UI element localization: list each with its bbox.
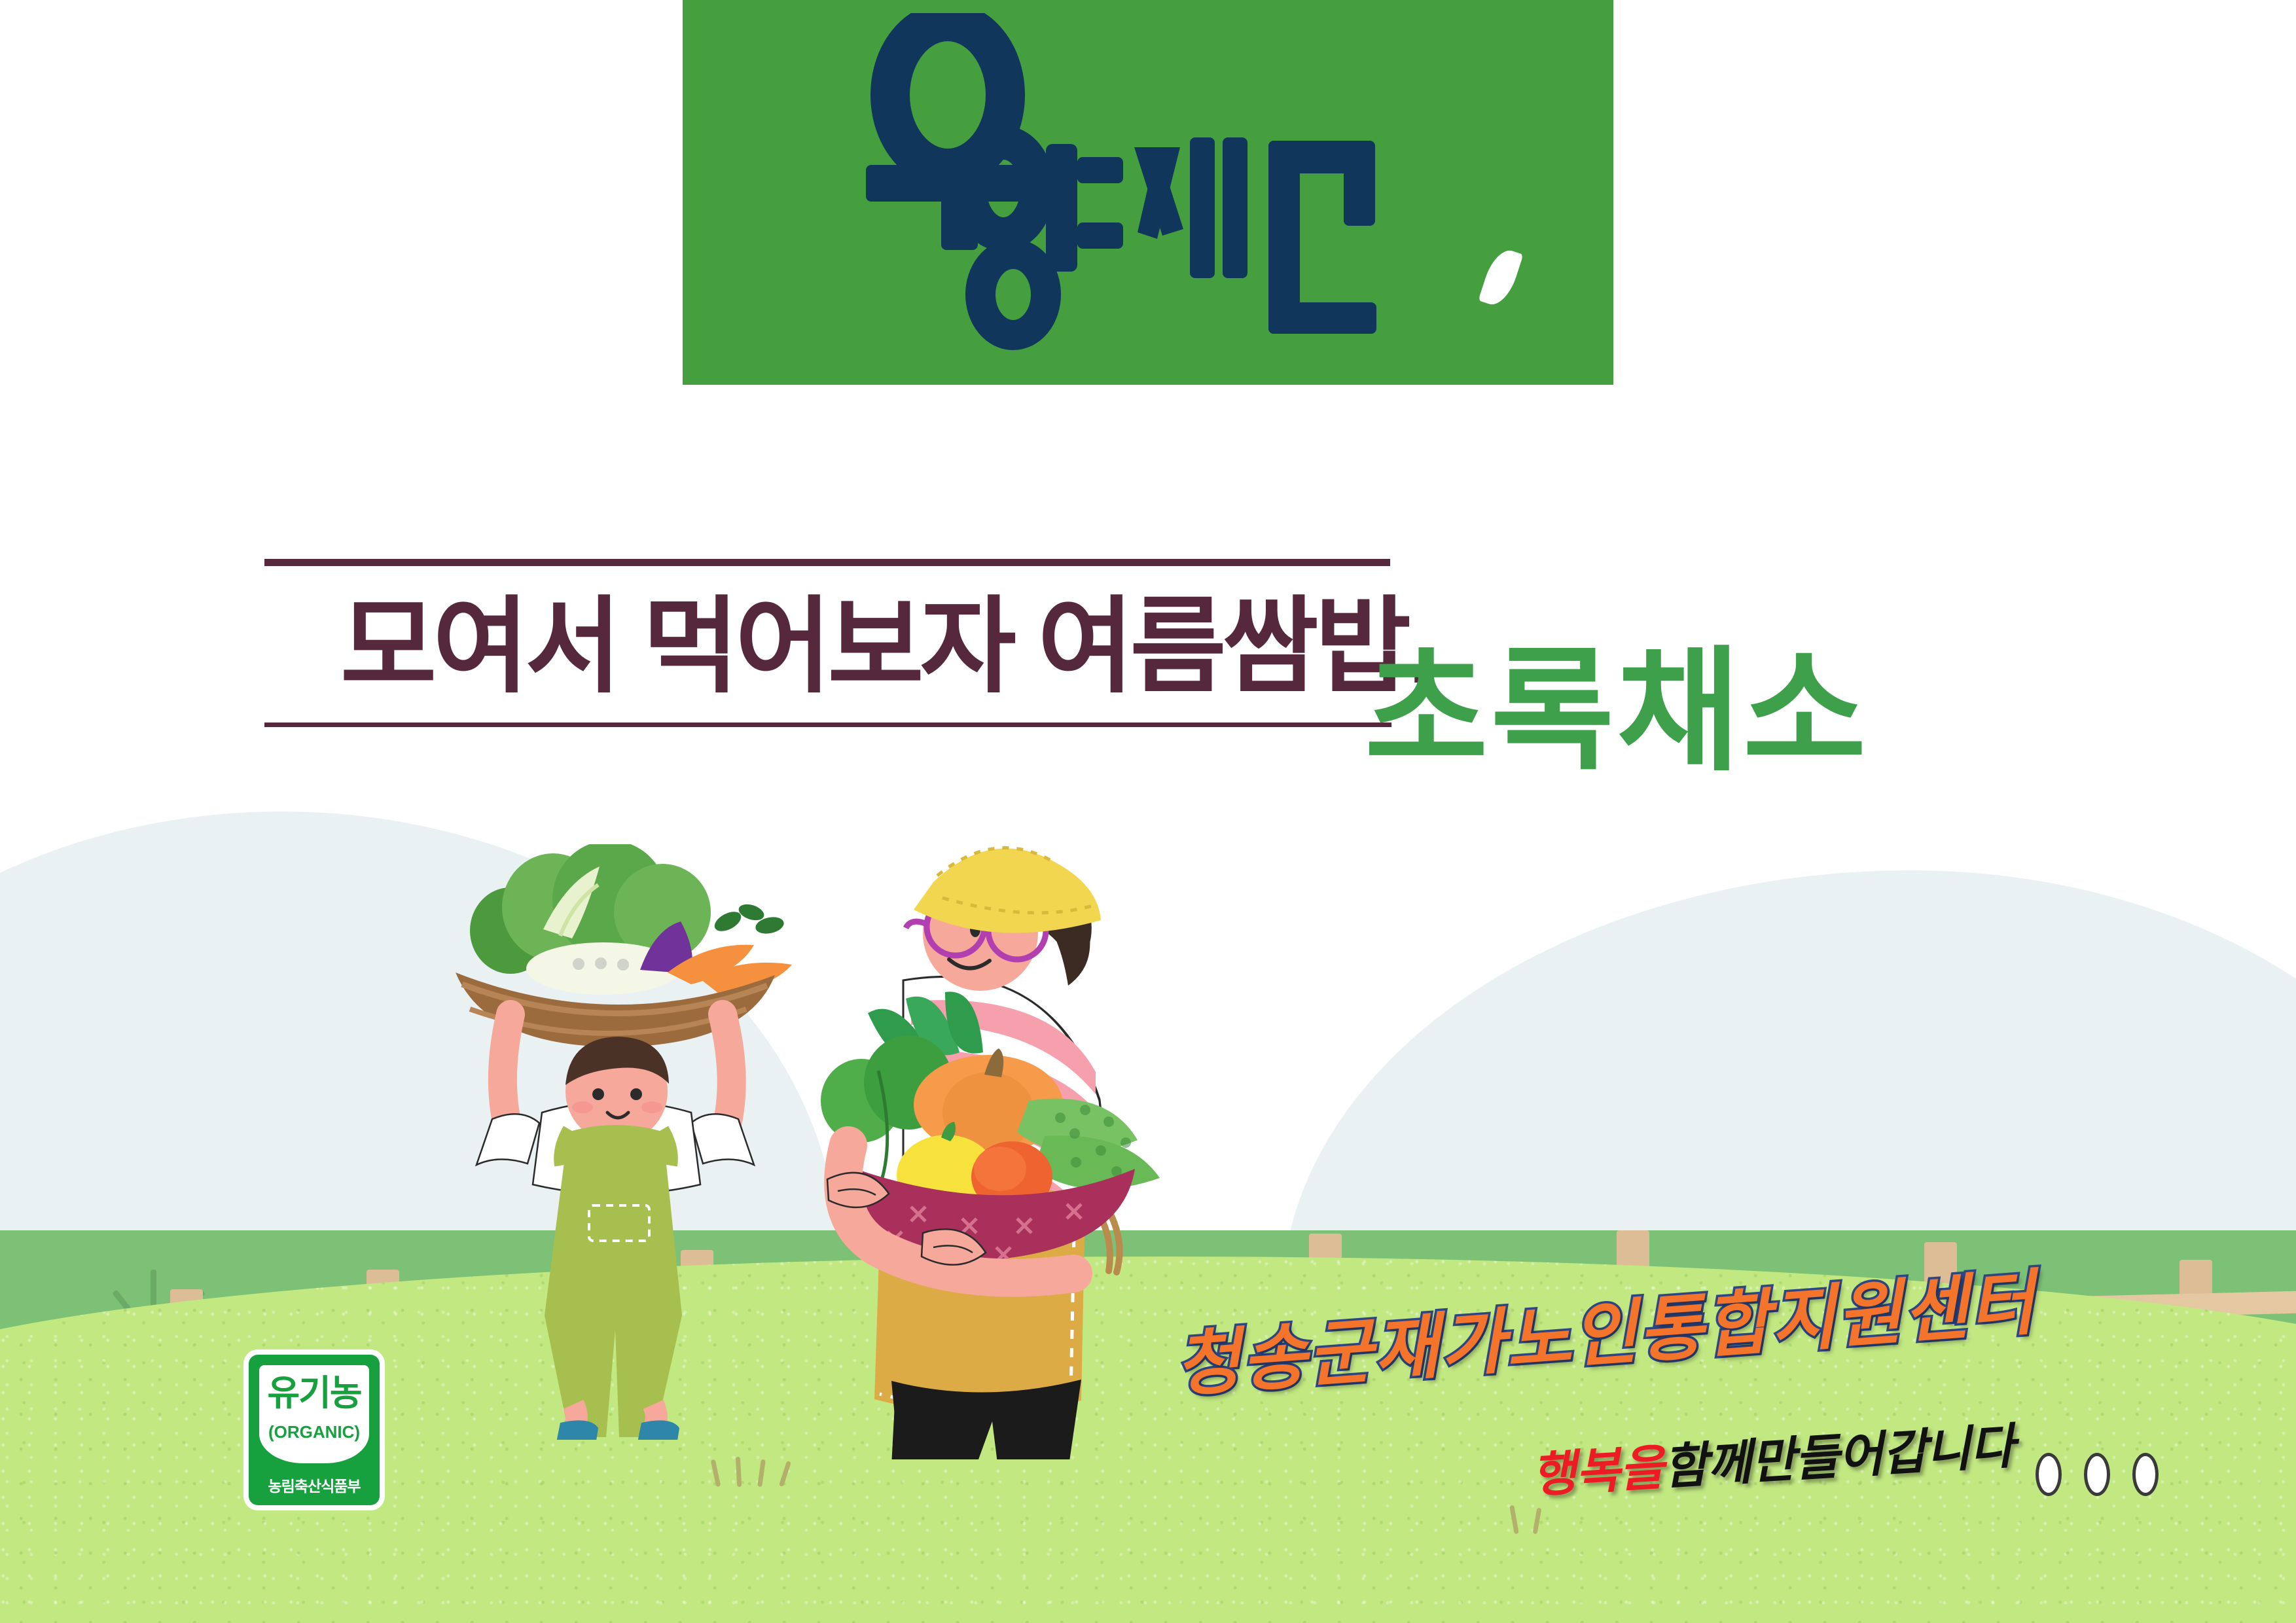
organic-badge-inner: 유기농 (ORGANIC) xyxy=(259,1365,369,1463)
headline-rule-bottom xyxy=(264,722,1391,727)
organic-badge-korean: 유기농 xyxy=(259,1365,369,1421)
organic-certification-badge: 유기농 (ORGANIC) 농림축산식품부 xyxy=(249,1355,380,1505)
dot-icon xyxy=(2084,1453,2110,1496)
slogan-highlight: 행복을 xyxy=(1530,1440,1665,1503)
subtitle-text: 초록채소 xyxy=(1365,645,1869,779)
leaf-icon xyxy=(1478,245,1523,309)
adult-carrying-basket xyxy=(740,805,1198,1459)
foundation-logo-box xyxy=(683,0,1613,385)
headline-text: 모여서 먹어보자 여름쌈밥, xyxy=(340,576,1388,717)
headline-rule-top xyxy=(264,559,1390,566)
poster-canvas: 모여서 먹어보자 여름쌈밥, 초록채소 xyxy=(0,0,2296,1623)
foundation-wordmark-icon xyxy=(850,13,1439,353)
organic-badge-department: 농림축산식품부 xyxy=(249,1474,380,1496)
dot-icon xyxy=(2132,1453,2159,1496)
slogan-trailing-dots xyxy=(2036,1453,2159,1496)
dot-icon xyxy=(2036,1453,2062,1496)
organic-badge-english: (ORGANIC) xyxy=(259,1421,369,1442)
